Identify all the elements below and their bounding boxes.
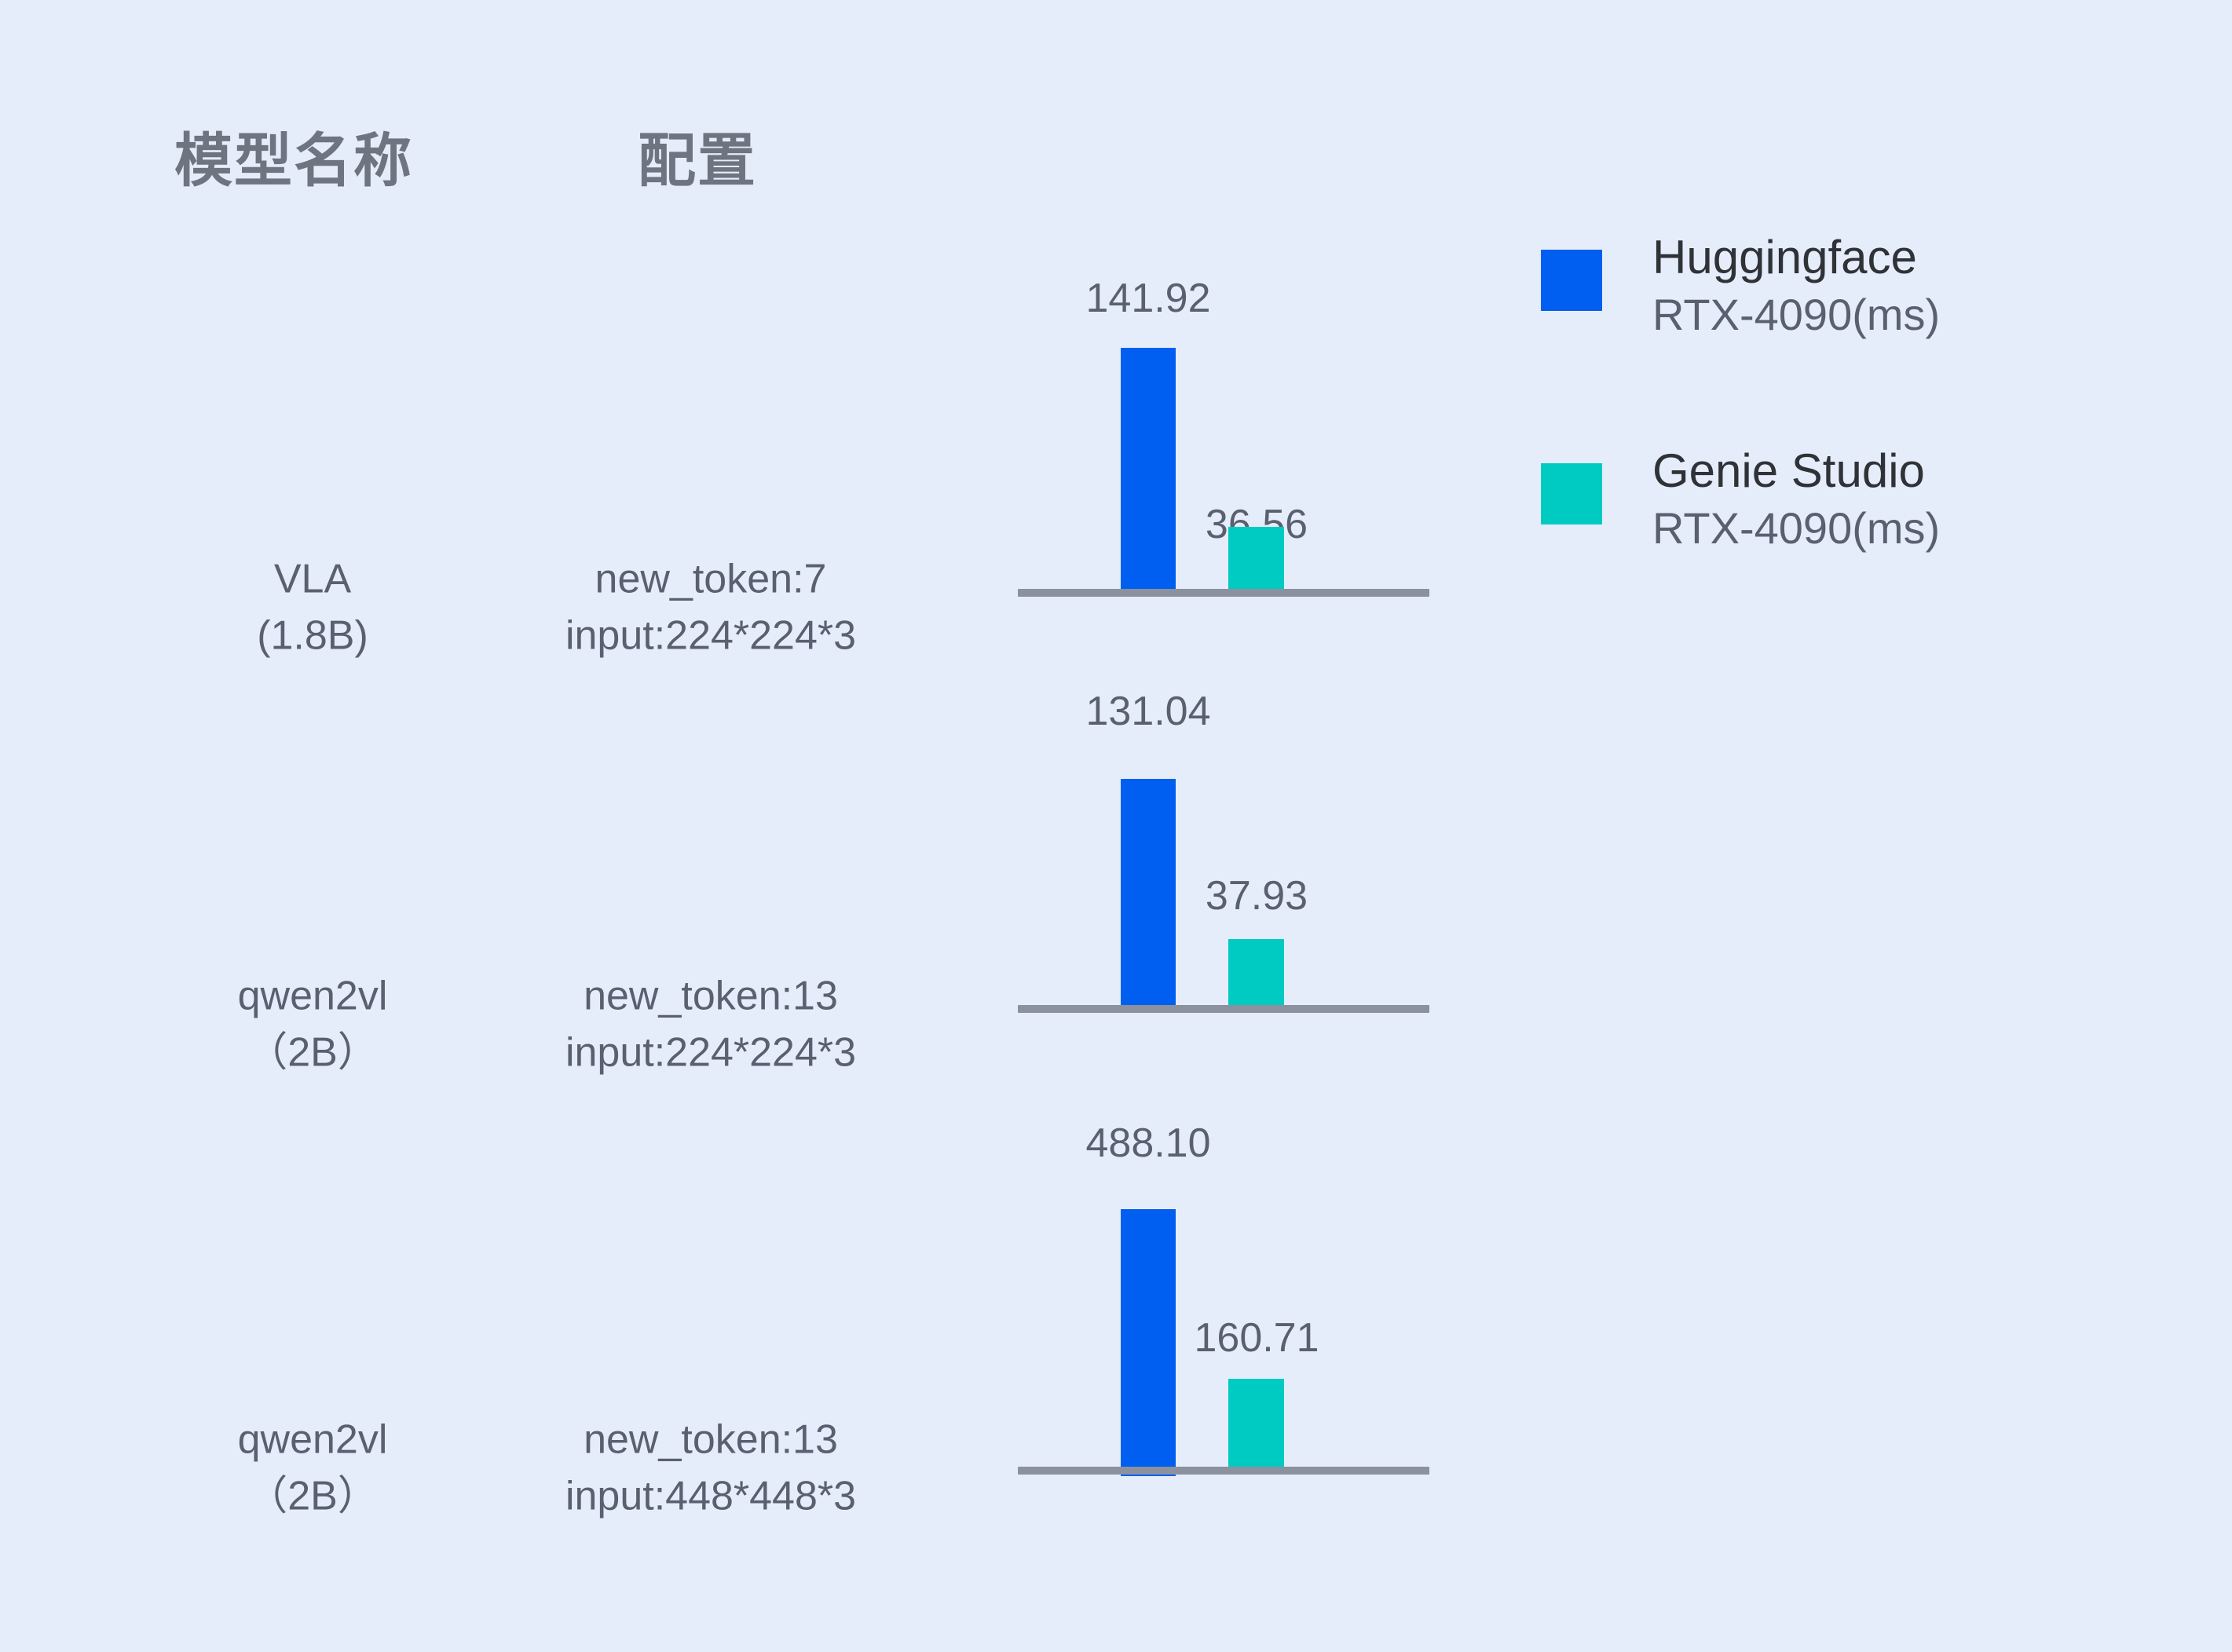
row-3-baseline [1018, 1467, 1429, 1475]
row-3-genie-studio-bar[interactable] [1228, 1379, 1284, 1467]
legend-label-huggingface: Huggingface RTX-4090(ms) [1652, 231, 1940, 341]
row-2-config-label: new_token:13 input:224*224*3 [565, 968, 856, 1081]
row-1-huggingface-bar[interactable] [1121, 348, 1176, 589]
row-1-plot: 141.92 36.56 [1018, 259, 1429, 589]
row-2-model-label: qwen2vl （2B） [238, 968, 388, 1081]
row-3-huggingface-value: 488.10 [1085, 1123, 1210, 1164]
row-1-model-line1: VLA [274, 556, 351, 601]
row-1-model-line2: (1.8B) [257, 608, 368, 664]
row-3-genie-studio-value: 160.71 [1194, 1318, 1319, 1358]
row-2-plot: 131.04 37.93 [1018, 675, 1429, 1005]
legend-swatch-blue-icon [1541, 250, 1602, 311]
legend-title-genie-studio: Genie Studio [1652, 444, 1940, 497]
legend-sub-genie-studio: RTX-4090(ms) [1652, 502, 1940, 554]
row-3-config-line2: input:448*448*3 [565, 1468, 856, 1525]
column-header-model-name: 模型名称 [174, 132, 413, 190]
chart-canvas: 模型名称 配置 VLA (1.8B) new_token:7 input:224… [0, 0, 2232, 1652]
row-1-config-label: new_token:7 input:224*224*3 [565, 551, 856, 664]
row-2-model-line1: qwen2vl [238, 973, 388, 1018]
legend-title-huggingface: Huggingface [1652, 231, 1940, 283]
row-1-config-line2: input:224*224*3 [565, 608, 856, 664]
row-1-genie-studio-bar[interactable] [1228, 527, 1284, 589]
legend-swatch-teal-icon [1541, 463, 1602, 524]
row-2-genie-studio-value: 37.93 [1206, 875, 1308, 916]
legend-sub-huggingface: RTX-4090(ms) [1652, 288, 1940, 341]
column-header-config: 配置 [638, 132, 757, 190]
row-3-config-line1: new_token:13 [584, 1416, 838, 1462]
row-3-plot: 488.10 160.71 [1018, 1115, 1429, 1467]
row-3-config-label: new_token:13 input:448*448*3 [565, 1412, 856, 1525]
row-2-huggingface-bar[interactable] [1121, 779, 1176, 1005]
row-2-genie-studio-bar[interactable] [1228, 939, 1284, 1005]
row-2-model-line2: （2B） [238, 1025, 388, 1081]
row-2-huggingface-value: 131.04 [1085, 691, 1210, 732]
row-2-config-line2: input:224*224*3 [565, 1025, 856, 1081]
legend-label-genie-studio: Genie Studio RTX-4090(ms) [1652, 444, 1940, 554]
row-1-model-label: VLA (1.8B) [257, 551, 368, 664]
row-3-model-line1: qwen2vl [238, 1416, 388, 1462]
row-3-model-line2: （2B） [238, 1468, 388, 1525]
row-3-huggingface-bar[interactable] [1121, 1209, 1176, 1476]
row-1-huggingface-value: 141.92 [1085, 278, 1210, 319]
row-2-config-line1: new_token:13 [584, 973, 838, 1018]
row-1-baseline [1018, 589, 1429, 597]
row-2-baseline [1018, 1005, 1429, 1013]
row-1-config-line1: new_token:7 [595, 556, 827, 601]
row-3-model-label: qwen2vl （2B） [238, 1412, 388, 1525]
